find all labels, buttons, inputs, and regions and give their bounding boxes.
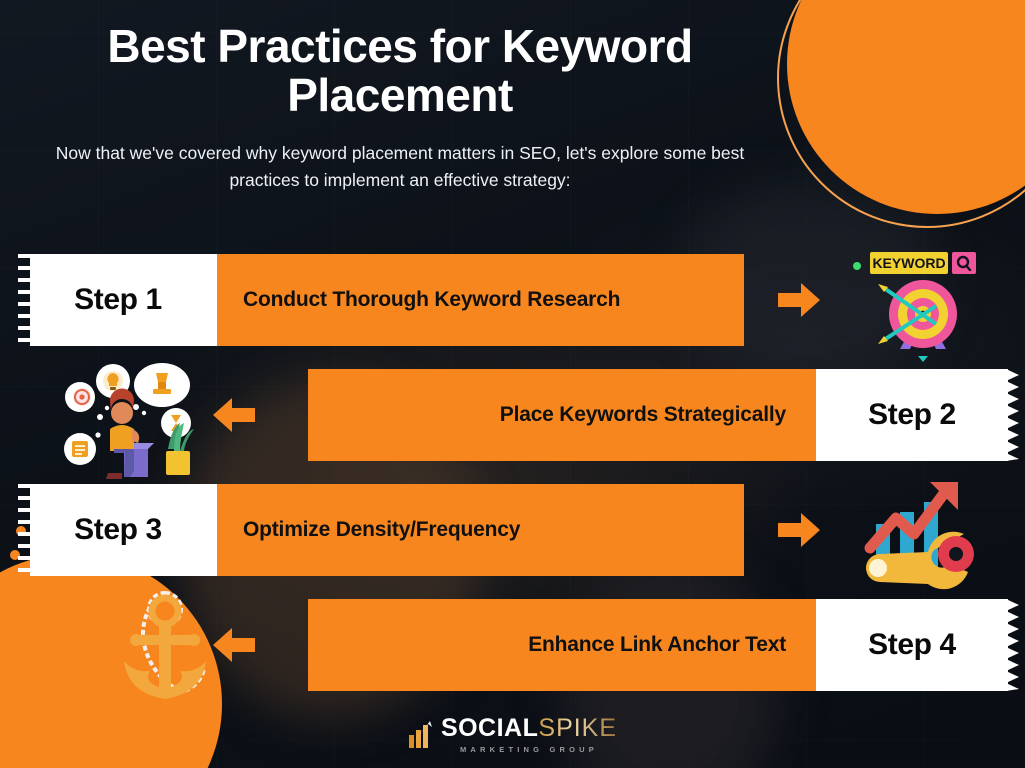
arrow-left-icon — [213, 397, 255, 433]
thinking-person-illustration — [52, 361, 202, 481]
logo-wordmark: SOCIAL SPIKE MARKETING GROUP — [441, 714, 617, 754]
infographic-poster: Best Practices for Keyword Placement Now… — [0, 0, 1025, 768]
step-row-3: Step 3 Optimize Density/Frequency — [0, 478, 1025, 593]
step-bar-4: Enhance Link Anchor Text — [308, 599, 816, 691]
growth-chart-wrench-illustration — [856, 472, 1016, 596]
arrow-left-icon — [213, 627, 255, 663]
step-chip-3: Step 3 — [18, 484, 218, 576]
page-subtitle: Now that we've covered why keyword place… — [20, 140, 780, 193]
anchor-illustration — [110, 583, 220, 713]
logo-tagline: MARKETING GROUP — [460, 745, 598, 754]
page-title: Best Practices for Keyword Placement — [20, 22, 780, 120]
ticket-edge-right-2 — [1006, 369, 1019, 461]
logo-primary-text: SOCIAL — [441, 714, 538, 743]
arrow-right-icon — [778, 282, 820, 318]
step-chip-label-3: Step 3 — [74, 513, 162, 547]
step-chip-2: Step 2 — [816, 369, 1008, 461]
keyword-target-illustration: KEYWORD — [848, 244, 998, 366]
step-chip-label-2: Step 2 — [868, 398, 956, 432]
step-chip-label-4: Step 4 — [868, 628, 956, 662]
arrow-right-icon — [778, 512, 820, 548]
header: Best Practices for Keyword Placement Now… — [0, 0, 800, 193]
step-bar-3: Optimize Density/Frequency — [217, 484, 744, 576]
logo-bar-chart-icon — [408, 719, 434, 749]
step-bar-label-3: Optimize Density/Frequency — [243, 518, 520, 542]
step-row-2: Place Keywords Strategically Step 2 — [0, 363, 1025, 478]
step-bar-label-1: Conduct Thorough Keyword Research — [243, 288, 620, 312]
ticket-edge-right-4 — [1006, 599, 1019, 691]
footer-logo: SOCIAL SPIKE MARKETING GROUP — [0, 714, 1025, 754]
step-bar-label-2: Place Keywords Strategically — [500, 403, 786, 427]
step-bar-1: Conduct Thorough Keyword Research — [217, 254, 744, 346]
step-bar-label-4: Enhance Link Anchor Text — [528, 633, 786, 657]
logo-secondary-text: SPIKE — [538, 714, 617, 743]
step-bar-2: Place Keywords Strategically — [308, 369, 816, 461]
keyword-tag-text: KEYWORD — [872, 255, 945, 271]
step-chip-label-1: Step 1 — [74, 283, 162, 317]
step-chip-1: Step 1 — [18, 254, 218, 346]
step-row-1: Step 1 Conduct Thorough Keyword Research… — [0, 248, 1025, 363]
step-chip-4: Step 4 — [816, 599, 1008, 691]
steps-list: Step 1 Conduct Thorough Keyword Research… — [0, 248, 1025, 708]
step-row-4: Enhance Link Anchor Text Step 4 — [0, 593, 1025, 708]
